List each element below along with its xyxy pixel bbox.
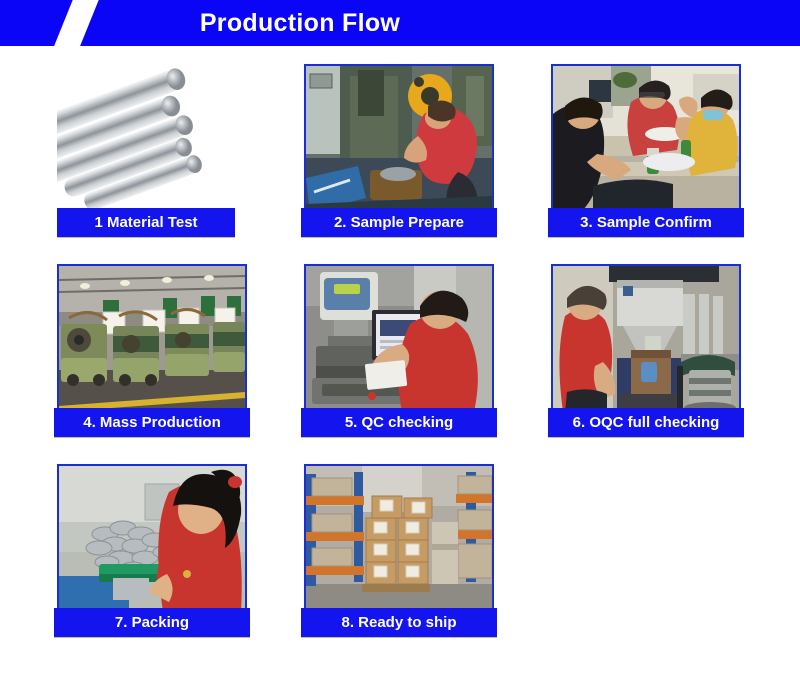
step-photo-4 [57,264,247,414]
step-photo-6 [551,264,741,414]
step-card-7[interactable]: 7. Packing [57,464,247,637]
step-card-5[interactable]: 5. QC checking [304,264,494,437]
oqc-checking-illustration [553,266,739,412]
production-flow-page: Production Flow [0,0,800,690]
step-label-7: 7. Packing [54,608,250,637]
material-test-illustration [57,64,247,214]
step-label-2: 2. Sample Prepare [301,208,497,237]
step-label-4: 4. Mass Production [54,408,250,437]
packing-illustration [59,466,245,612]
sample-confirm-illustration [553,66,739,212]
step-label-3: 3. Sample Confirm [548,208,744,237]
step-photo-1 [57,64,247,214]
mass-production-illustration [59,266,245,412]
step-photo-7 [57,464,247,614]
step-photo-5 [304,264,494,414]
step-card-4[interactable]: 4. Mass Production [57,264,247,437]
step-label-5: 5. QC checking [301,408,497,437]
qc-checking-illustration [306,266,492,412]
step-card-8[interactable]: 8. Ready to ship [304,464,494,637]
page-header: Production Flow [0,0,800,46]
step-photo-8 [304,464,494,614]
step-card-6[interactable]: 6. OQC full checking [551,264,741,437]
step-label-8: 8. Ready to ship [301,608,497,637]
step-photo-3 [551,64,741,214]
ready-to-ship-illustration [306,466,492,612]
step-card-2[interactable]: 2. Sample Prepare [304,64,494,237]
step-card-3[interactable]: 3. Sample Confirm [551,64,741,237]
sample-prepare-illustration [306,66,492,212]
step-label-6: 6. OQC full checking [548,408,744,437]
step-label-1: 1 Material Test [57,208,235,237]
step-photo-2 [304,64,494,214]
page-title: Production Flow [0,0,800,46]
step-card-1[interactable]: 1 Material Test [57,64,247,237]
production-step-grid: 1 Material Test [0,46,800,690]
